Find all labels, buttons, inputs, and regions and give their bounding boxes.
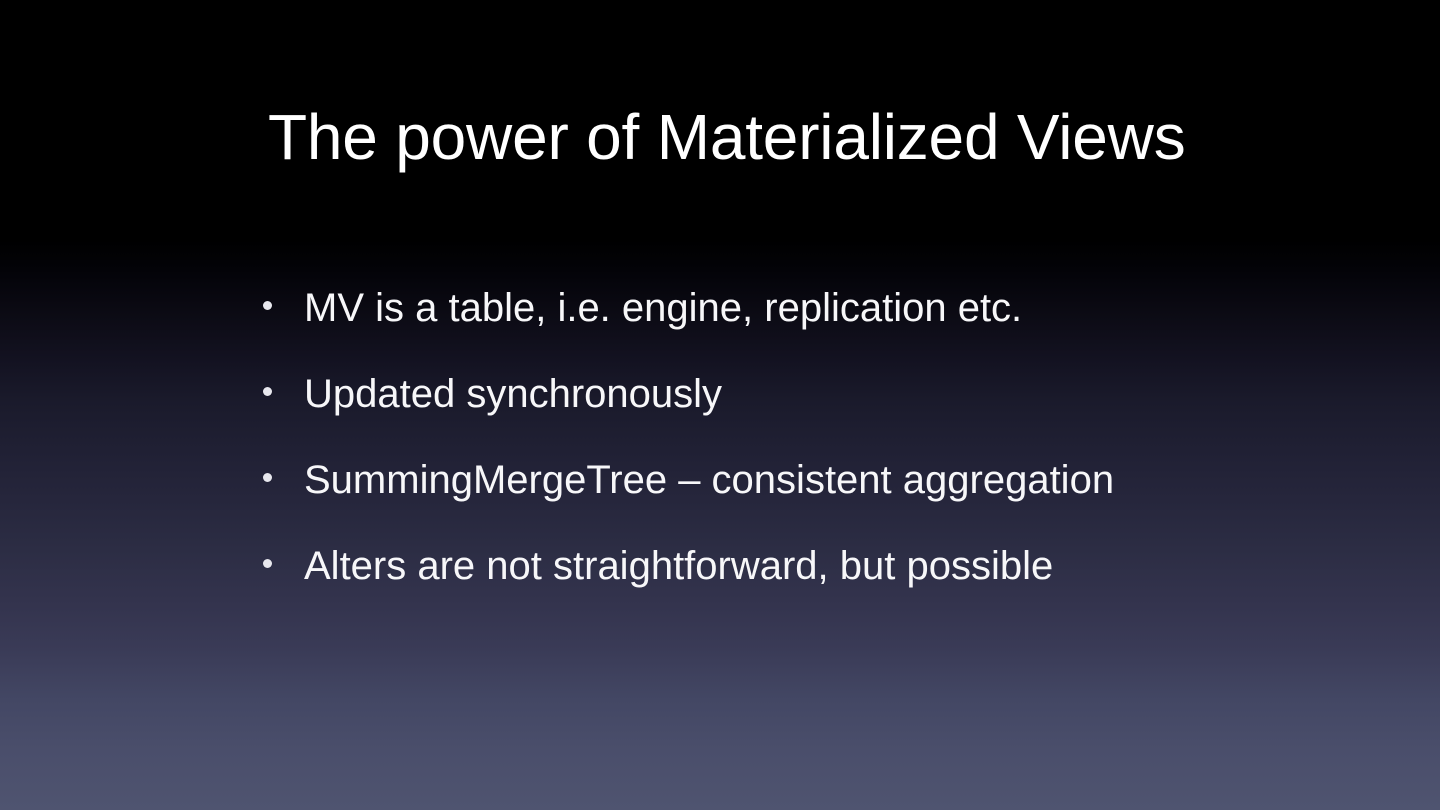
list-item: SummingMergeTree – consistent aggregatio… [258,455,1358,541]
bullet-dot-icon [263,301,272,310]
list-item: Updated synchronously [258,369,1358,455]
bullet-dot-icon [263,473,272,482]
page-title: The power of Materialized Views [268,101,1228,173]
slide-canvas: The power of Materialized Views MV is a … [0,0,1440,810]
bullet-dot-icon [263,387,272,396]
bullet-list: MV is a table, i.e. engine, replication … [258,283,1358,627]
list-item: Alters are not straightforward, but poss… [258,541,1358,627]
list-item-label: Alters are not straightforward, but poss… [258,541,1358,591]
list-item-label: MV is a table, i.e. engine, replication … [258,283,1358,333]
list-item-label: Updated synchronously [258,369,1358,419]
bullet-dot-icon [263,559,272,568]
list-item: MV is a table, i.e. engine, replication … [258,283,1358,369]
list-item-label: SummingMergeTree – consistent aggregatio… [258,455,1358,505]
